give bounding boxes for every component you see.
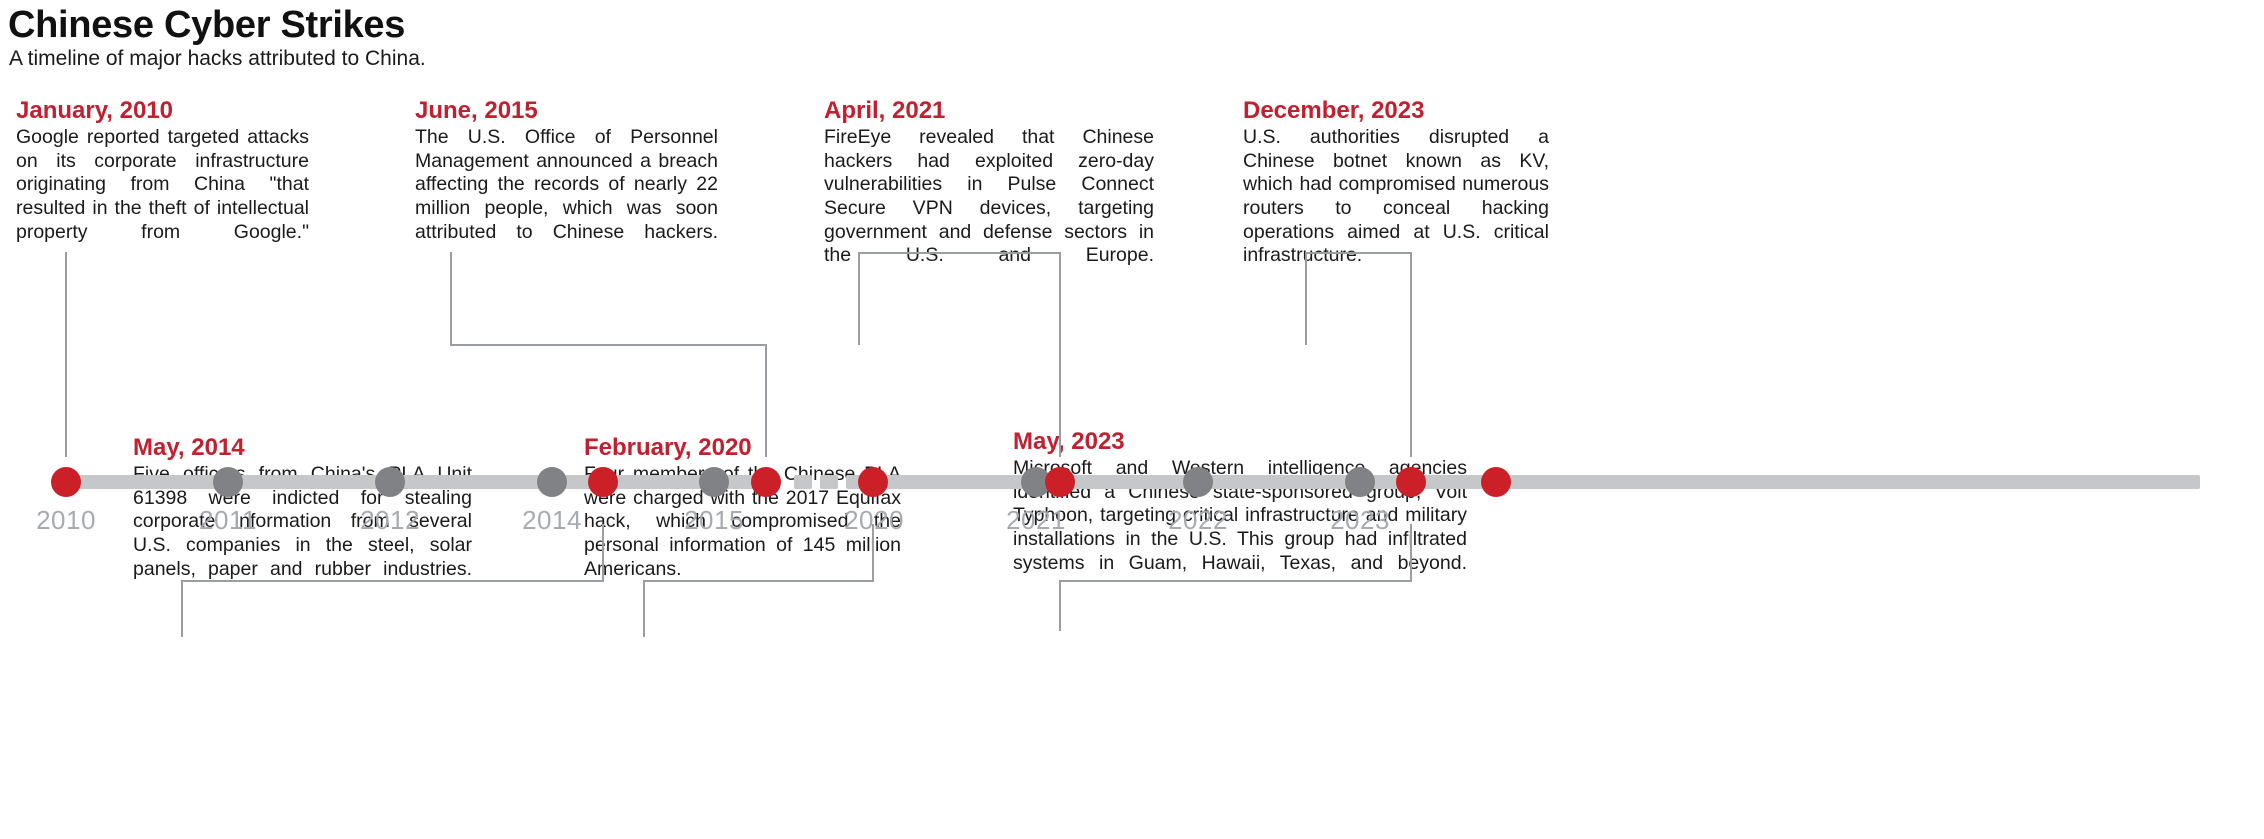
axis-node-year-2014 bbox=[537, 467, 567, 497]
axis-year-label-2023: 2023 bbox=[1330, 505, 1390, 536]
axis-node-event-june-2015[interactable] bbox=[751, 467, 781, 497]
event-date-may-2023: May, 2023 bbox=[1013, 429, 1467, 456]
leader-line-february-2020-horizontal bbox=[643, 580, 874, 582]
event-card-december-2023: December, 2023 U.S. authorities disrupte… bbox=[1243, 98, 1549, 292]
leader-line-may-2023-horizontal bbox=[1059, 580, 1412, 582]
leader-line-december-2023-vertical bbox=[1305, 252, 1307, 345]
axis-node-event-february-2020[interactable] bbox=[858, 467, 888, 497]
axis-node-event-january-2010[interactable] bbox=[51, 467, 81, 497]
event-body-january-2010: Google reported targeted attacks on its … bbox=[16, 126, 309, 268]
leader-line-april-2021-horizontal bbox=[858, 252, 1060, 254]
leader-line-june-2015-drop bbox=[765, 344, 767, 457]
axis-year-label-2021: 2021 bbox=[1006, 505, 1066, 536]
timeline-infographic: Chinese Cyber Strikes A timeline of majo… bbox=[0, 0, 2264, 839]
leader-line-february-2020-drop bbox=[643, 580, 645, 637]
event-date-june-2015: June, 2015 bbox=[415, 98, 718, 125]
leader-line-may-2014-horizontal bbox=[181, 580, 604, 582]
event-date-february-2020: February, 2020 bbox=[584, 435, 901, 462]
axis-node-year-2012 bbox=[375, 467, 405, 497]
event-card-april-2021: April, 2021 FireEye revealed that Chines… bbox=[824, 98, 1154, 292]
event-date-may-2014: May, 2014 bbox=[133, 435, 472, 462]
axis-year-label-2012: 2012 bbox=[360, 505, 420, 536]
leader-line-june-2015-horizontal bbox=[450, 344, 767, 346]
leader-line-april-2021-vertical bbox=[858, 252, 860, 345]
axis-node-year-2011 bbox=[213, 467, 243, 497]
axis-node-event-may-2023[interactable] bbox=[1396, 467, 1426, 497]
axis-year-label-2022: 2022 bbox=[1168, 505, 1228, 536]
axis-year-label-2020: 2020 bbox=[844, 505, 904, 536]
event-body-december-2023: U.S. authorities disrupted a Chinese bot… bbox=[1243, 126, 1549, 292]
event-card-january-2010: January, 2010 Google reported targeted a… bbox=[16, 98, 309, 268]
axis-segment-2010-2015 bbox=[66, 475, 780, 489]
leader-line-december-2023-horizontal bbox=[1305, 252, 1412, 254]
leader-line-december-2023-drop bbox=[1410, 252, 1412, 457]
leader-line-january-2010 bbox=[65, 252, 67, 457]
event-date-december-2023: December, 2023 bbox=[1243, 98, 1549, 125]
event-date-january-2010: January, 2010 bbox=[16, 98, 309, 125]
axis-dash-1 bbox=[794, 475, 812, 489]
leader-line-june-2015-vertical bbox=[450, 252, 452, 345]
axis-node-year-2023 bbox=[1345, 467, 1375, 497]
page-subtitle: A timeline of major hacks attributed to … bbox=[9, 47, 426, 71]
timeline-axis: 2010 2011 2012 2014 2015 2020 2021 2022 … bbox=[0, 461, 2264, 521]
axis-year-label-2014: 2014 bbox=[522, 505, 582, 536]
event-body-april-2021: FireEye revealed that Chinese hackers ha… bbox=[824, 126, 1154, 292]
axis-node-event-april-2021[interactable] bbox=[1045, 467, 1075, 497]
leader-line-may-2014-drop bbox=[181, 580, 183, 637]
axis-year-label-2011: 2011 bbox=[199, 505, 257, 536]
event-date-april-2021: April, 2021 bbox=[824, 98, 1154, 125]
axis-node-year-2022 bbox=[1183, 467, 1213, 497]
axis-node-year-2015 bbox=[699, 467, 729, 497]
event-card-june-2015: June, 2015 The U.S. Office of Personnel … bbox=[415, 98, 718, 268]
page-title: Chinese Cyber Strikes bbox=[8, 4, 405, 47]
axis-node-event-december-2023[interactable] bbox=[1481, 467, 1511, 497]
leader-line-may-2023-drop bbox=[1059, 580, 1061, 631]
event-body-june-2015: The U.S. Office of Personnel Management … bbox=[415, 126, 718, 268]
leader-line-april-2021-drop bbox=[1059, 252, 1061, 457]
leader-line-may-2014-vertical bbox=[602, 524, 604, 581]
leader-line-may-2023-vertical bbox=[1410, 524, 1412, 581]
axis-dash-2 bbox=[820, 475, 838, 489]
axis-node-event-may-2014[interactable] bbox=[588, 467, 618, 497]
axis-year-label-2015: 2015 bbox=[684, 505, 744, 536]
axis-year-label-2010: 2010 bbox=[36, 505, 96, 536]
